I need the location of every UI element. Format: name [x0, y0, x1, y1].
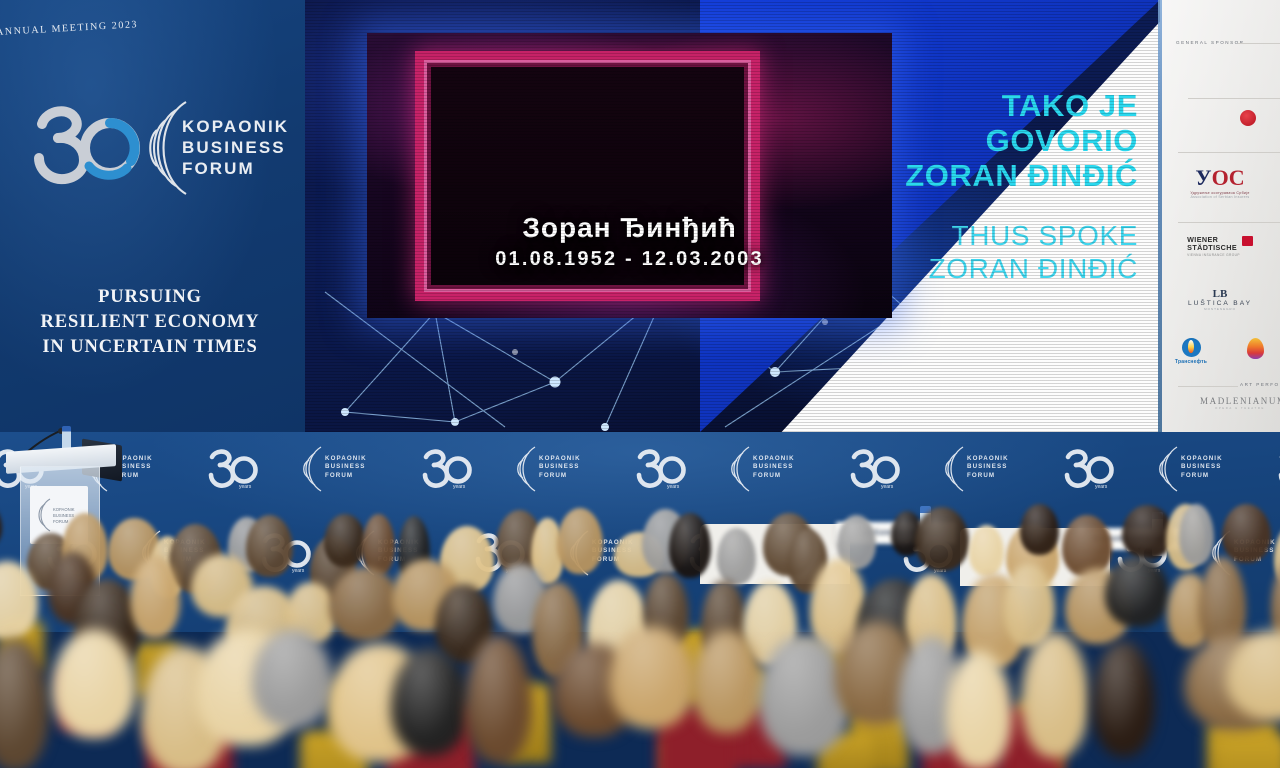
audience-member [130, 556, 180, 638]
transneft-wordmark: Транснефть [1160, 359, 1222, 365]
forum-name-block: KOPAONIK BUSINESS FORUM [182, 116, 289, 179]
divider-rule [1178, 222, 1280, 223]
thirty-years-mark-icon: years [1064, 448, 1116, 490]
forum-arcs-icon [941, 444, 967, 494]
wiener-subtitle: VIENNA INSURANCE GROUP [1187, 253, 1240, 257]
audience-member [969, 525, 1004, 576]
sponsor-logo-flame [1230, 338, 1280, 359]
sponsor-logo-uoc: УOC Удружење осигуравача Србије Associat… [1160, 165, 1280, 199]
left-wall-panel [0, 0, 305, 440]
audience-member [1020, 504, 1059, 554]
audience-member [1179, 504, 1214, 565]
audience-member [946, 650, 1012, 768]
svg-text:years: years [453, 484, 466, 490]
forum-name-line-3: FORUM [182, 158, 289, 179]
sponsor-logo-lustica-bay: LB LUŠTICA BAY MONTENEGRO [1160, 288, 1280, 311]
backdrop-forum-logo: KOPAONIKBUSINESSFORUM [933, 440, 1040, 502]
divider-rule [1238, 43, 1280, 44]
madlenianum-subtitle: OPERA & THEATRE [1200, 406, 1280, 410]
forum-name-line-1: KOPAONIK [182, 116, 289, 137]
svg-text:years: years [667, 484, 680, 490]
forum-arcs-icon [1155, 444, 1181, 494]
led-projection-screen: Зоран Ђинђић 01.08.1952 - 12.03.2003 TAK… [305, 0, 1160, 432]
sponsor-logo-madlenianum: MADLENIANUM OPERA & THEATRE [1200, 396, 1280, 410]
audience-member [391, 648, 469, 756]
backdrop-logo-row: yearsKOPAONIKBUSINESSFORUMyearsKOPAONIKB… [0, 440, 1280, 502]
transneft-flame-icon [1182, 338, 1201, 357]
backdrop-forum-logo: KOPAONIKBUSINESSFORUM [291, 440, 398, 502]
audience-member [465, 635, 532, 764]
wiener-wordmark: WIENER STÄDTISCHE VIENNA INSURANCE GROUP [1187, 236, 1240, 257]
event-tagline: PURSUING RESILIENT ECONOMY IN UNCERTAIN … [0, 285, 300, 360]
audience-member [362, 514, 395, 575]
audience-member [1222, 504, 1271, 563]
backdrop-30-years-logo: years [1040, 440, 1147, 502]
audience-member [669, 513, 710, 578]
sponsor-logo-general [1188, 110, 1280, 126]
wiener-shield-icon [1242, 236, 1253, 246]
audience-member [1105, 556, 1169, 627]
audience-member [692, 630, 761, 733]
backdrop-forum-name: KOPAONIKBUSINESSFORUM [539, 455, 581, 480]
thirty-years-mark-icon: years [850, 448, 902, 490]
backdrop-30-years-logo: years [398, 440, 505, 502]
tagline-line-1: PURSUING [0, 285, 300, 310]
backdrop-forum-name: KOPAONIKBUSINESSFORUM [753, 455, 795, 480]
led-scanline-overlay [305, 0, 1160, 432]
backdrop-30-years-logo: years [612, 440, 719, 502]
audience-member [1021, 632, 1088, 758]
tagline-line-3: IN UNCERTAIN TIMES [0, 335, 300, 360]
flame-icon [1247, 338, 1264, 359]
backdrop-forum-logo: KOPAONIKBUSINESSFORUM [505, 440, 612, 502]
uoc-subtitle-en: Association of Serbian Insurers [1160, 195, 1280, 199]
backdrop-forum-name: KOPAONIKBUSINESSFORUM [325, 455, 367, 480]
svg-text:years: years [881, 484, 894, 490]
uoc-oc-letters: OC [1212, 165, 1245, 190]
sponsor-board-panel [1160, 0, 1280, 432]
audience-member [1092, 641, 1155, 757]
backdrop-forum-name: KOPAONIKBUSINESSFORUM [1181, 455, 1223, 480]
lustica-monogram-icon: LB [1160, 288, 1280, 300]
audience-member [758, 635, 849, 757]
thirty-years-mark-icon [32, 104, 144, 188]
lustica-subtitle: MONTENEGRO [1160, 307, 1280, 311]
audience-member [0, 504, 2, 548]
forum-arcs-icon [299, 444, 325, 494]
audience-seating-area [0, 500, 1280, 768]
backdrop-30-years-logo: years [1254, 440, 1280, 502]
thirty-years-mark-icon: years [422, 448, 474, 490]
audience-member [717, 528, 756, 585]
tagline-line-2: RESILIENT ECONOMY [0, 310, 300, 335]
audience-chair [1217, 735, 1280, 768]
divider-rule [1178, 152, 1280, 153]
uoc-wordmark: УOC [1160, 165, 1280, 191]
art-performance-label: ART PERFORMANCE [1240, 382, 1280, 387]
conference-hall-photo: KOPAONIK BUSINESS FORUM PURSUING RESILIE… [0, 0, 1280, 768]
audience-member [246, 515, 293, 576]
wall-seam [1158, 0, 1162, 432]
lustica-wordmark: LUŠTICA BAY [1160, 300, 1280, 307]
audience-member [252, 629, 333, 728]
forum-name-line-2: BUSINESS [182, 137, 289, 158]
audience-member [329, 567, 401, 640]
thirty-years-mark-icon: years [208, 448, 260, 490]
forum-arcs-icon [727, 444, 753, 494]
sponsor-logo-transneft: Транснефть [1160, 338, 1222, 365]
svg-text:years: years [1095, 484, 1108, 490]
backdrop-forum-logo: KOPAONIKBUSINESSFORUM [719, 440, 826, 502]
backdrop-30-years-logo: years [826, 440, 933, 502]
forum-arcs-icon [513, 444, 539, 494]
backdrop-30-years-logo: years [184, 440, 291, 502]
audience-member [557, 508, 603, 574]
svg-text:years: years [239, 484, 252, 490]
backdrop-forum-name: KOPAONIKBUSINESSFORUM [967, 455, 1009, 480]
thirty-years-mark-icon: years [636, 448, 688, 490]
kopaonik-business-forum-logo: KOPAONIK BUSINESS FORUM [22, 96, 272, 206]
audience-member [915, 507, 969, 571]
backdrop-forum-logo: KOPAONIKBUSINESSFORUM [1147, 440, 1254, 502]
general-sponsor-mark-icon [1240, 110, 1256, 126]
sponsor-section-art: ART PERFORMANCE [1160, 382, 1280, 387]
divider-rule [1188, 98, 1280, 99]
audience-member [1122, 505, 1172, 559]
madlenianum-wordmark: MADLENIANUM [1200, 396, 1280, 406]
audience-member [324, 514, 366, 567]
wiener-line-2: STÄDTISCHE [1187, 244, 1240, 252]
sponsor-logo-wiener-stadtische: WIENER STÄDTISCHE VIENNA INSURANCE GROUP [1160, 236, 1280, 261]
